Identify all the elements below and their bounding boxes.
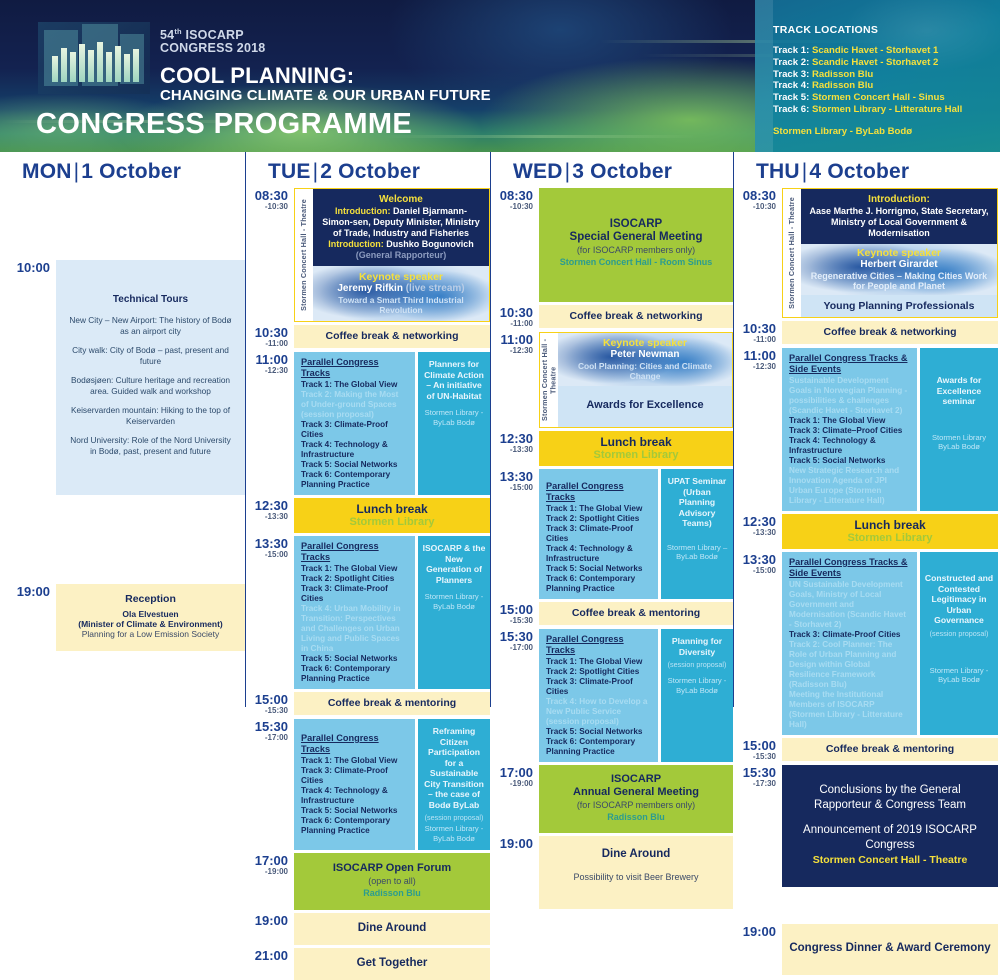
welcome-intro-1: Introduction: Daniel Bjarmann-Simon-sen,… [320,206,482,239]
day-abbr: MON [22,160,72,183]
sgm-org: ISOCARP [547,218,725,231]
time-label: 19:00 [495,836,539,850]
tracks-heading: Parallel Congress Tracks [546,481,651,503]
agm-note: (for ISOCARP members only) [545,799,727,811]
day-heading-thursday: THU|4 October [734,152,998,188]
side-event-title: Reframing Citizen Participation for a Su… [422,726,486,810]
get-together-label: Get Together [300,957,484,970]
time-label: 13:30 -15:00 [495,469,539,493]
track-location-value: Scandic Havet - Storhavet 2 [812,57,938,68]
wed-coffee-pm-block[interactable]: Coffee break & mentoring [539,602,733,625]
tue-welcome-keynote-block[interactable]: Stormen Concert Hall - Theatre Welcome I… [294,188,490,322]
time-label: 15:00 -15:30 [250,692,294,716]
thu-1330-row: 13:30 -15:00 Parallel Congress Tracks & … [738,552,998,735]
track-line[interactable]: Sustainable Development Goals in Norwegi… [789,376,910,416]
welcome-intro-2: Introduction: Dushko Bogunovich [320,239,482,250]
track-locations-heading: TRACK LOCATIONS [773,24,988,36]
tue-1100-row: 11:00 -12:30 Parallel Congress Tracks Tr… [250,352,490,495]
time-label: 19:00 [250,913,294,927]
thursday-rows: 08:30 -10:30 Stormen Concert Hall - Thea… [734,188,998,975]
reception-subject: Planning for a Low Emission Society [66,629,235,640]
wed-1030-row: 10:30 -11:00 Coffee break & networking [495,305,733,329]
wed-1500-row: 15:00 -15:30 Coffee break & mentoring [495,602,733,626]
keynote-label: Keynote speaker [564,337,726,349]
congress-theme-subtitle: CHANGING CLIMATE & OUR URBAN FUTURE [160,87,491,104]
side-event-location: Stormen Library - ByLab Bodø [422,592,486,611]
side-event-title: ISOCARP & the New Generation of Planners [422,543,486,585]
track-location-key: Track 1: [773,45,812,56]
tracks-heading: Parallel Congress Tracks & Side Events [789,353,910,375]
tue-side-event-1330[interactable]: ISOCARP & the New Generation of Planners… [418,536,490,689]
thu-intro-keynote-block[interactable]: Stormen Concert Hall - Theatre Introduct… [782,188,998,318]
thu-tracks-1330-block[interactable]: Parallel Congress Tracks & Side Events U… [782,552,998,735]
tue-coffee-pm-block[interactable]: Coffee break & mentoring [294,692,490,715]
technical-tour-item[interactable]: Nord University: Role of the Nord Univer… [68,435,233,456]
page-header: 54th ISOCARP CONGRESS 2018 COOL PLANNING… [0,0,1000,152]
day-abbr: THU [756,160,800,183]
time-label: 10:30 -11:00 [250,325,294,349]
technical-tour-item[interactable]: New City – New Airport: The history of B… [68,315,233,336]
side-event-note: (session proposal) [665,660,729,669]
coffee-break-label: Coffee break & networking [300,330,484,343]
coffee-break-label: Coffee break & networking [545,310,727,323]
sgm-title: Special General Meeting [547,231,725,244]
thu-1030-row: 10:30 -11:00 Coffee break & networking [738,321,998,345]
track-line[interactable]: Track 3: Climate-Proof Cities [301,766,408,786]
dine-around-note: Possibility to visit Beer Brewery [545,871,727,883]
time-label: 08:30 -10:30 [738,188,782,212]
keynote-speaker-name: Herbert Girardet [807,259,991,271]
thu-conclusions-block[interactable]: Conclusions by the General Rapporteur & … [782,765,998,887]
side-event-location: Stormen Library - ByLab Bodø [924,666,994,685]
track-line[interactable]: Track 2: Spotlight Cities [546,667,651,677]
side-event-title: Constructed and Contested Legitimacy in … [924,573,994,626]
day-separator: | [72,160,82,183]
track-line[interactable]: Track 2: Spotlight Cities [546,514,651,524]
track-line[interactable]: Track 6: Contemporary Planning Practice [301,664,408,684]
wednesday-rows: 08:30 -10:30 ISOCARP Special General Mee… [491,188,733,909]
agm-title: Annual General Meeting [545,786,727,799]
time-label: 12:30 -13:30 [250,498,294,522]
track-location-key: Track 5: [773,92,812,103]
wed-coffee-am-block[interactable]: Coffee break & networking [539,305,733,328]
technical-tour-item[interactable]: Bodøsjøen: Culture heritage and recreati… [68,375,233,396]
tue-1030-row: 10:30 -11:00 Coffee break & networking [250,325,490,349]
awards-for-excellence-section: Awards for Excellence [558,386,732,427]
track-line[interactable]: Track 5: Social Networks [301,806,408,816]
congress-edition-line2: CONGRESS 2018 [160,42,491,55]
lunch-location: Stormen Library [788,532,992,544]
venue-vertical-label: Stormen Concert Hall - Theatre [783,189,801,317]
time-label: 10:30 -11:00 [495,305,539,329]
time-label: 13:30 -15:00 [738,552,782,576]
tue-tracks-1100-block[interactable]: Parallel Congress Tracks Track 1: The Gl… [294,352,490,495]
time-label: 08:30 -10:30 [495,188,539,212]
time-label: 17:00 -19:00 [250,853,294,877]
track-location-key: Track 6: [773,104,812,115]
thu-1900-row: 19:00 Congress Dinner & Award Ceremony [738,924,998,975]
track-line[interactable]: Track 3: Climate-Proof Cities [546,524,651,544]
day-column-monday: MON|1 October 10:00 Technical Tours New … [0,152,245,707]
keynote-talk-title: Regenerative Cities – Making Cities Work… [807,271,991,291]
track-line[interactable]: Track 3: Climate-Proof Cities [301,584,408,604]
track-line[interactable]: Track 5: Social Networks [546,564,651,574]
day-column-wednesday: WED|3 October 08:30 -10:30 ISOCARP Speci… [490,152,733,707]
day-heading-wednesday: WED|3 October [491,152,733,188]
time-label: 11:00 -12:30 [250,352,294,376]
thu-1530-row: 15:30 -17:30 Conclusions by the General … [738,765,998,887]
track-location-key: Track 2: [773,57,812,68]
coffee-break-label: Coffee break & mentoring [788,743,992,756]
track-line[interactable]: Track 5: Social Networks [301,460,408,470]
intro-label: Introduction: [808,194,990,206]
tue-open-forum-block[interactable]: ISOCARP Open Forum (open to all) Radisso… [294,853,490,910]
congress-edition-line1: 54th ISOCARP [160,26,491,42]
track-location-value: Scandic Havet - Storhavet 1 [812,45,938,56]
track-line[interactable]: Track 1: The Global View [301,756,408,766]
coffee-break-label: Coffee break & mentoring [545,607,727,620]
time-label: 08:30 -10:30 [250,188,294,212]
side-event-note: (session proposal) [924,629,994,638]
header-title-block: 54th ISOCARP CONGRESS 2018 COOL PLANNING… [160,26,491,104]
wed-1330-row: 13:30 -15:00 Parallel Congress Tracks Tr… [495,469,733,599]
wed-sgm-block[interactable]: ISOCARP Special General Meeting (for ISO… [539,188,733,302]
programme-grid: MON|1 October 10:00 Technical Tours New … [0,152,1000,707]
tue-dine-around-block[interactable]: Dine Around [294,913,490,945]
track-line[interactable]: Track 4: Technology & Infrastructure [301,440,408,460]
welcome-section: Welcome Introduction: Daniel Bjarmann-Si… [313,189,489,266]
time-label: 15:30 -17:30 [738,765,782,789]
thu-intro-section: Introduction: Aase Marthe J. Horrigmo, S… [801,189,997,244]
side-event-title: UPAT Seminar (Urban Planning Advisory Te… [665,476,729,529]
side-event-location: Stormen Library - ByLab Bodø [422,408,486,427]
venue-vertical-label: Stormen Concert Hall - Theatre [540,333,558,427]
keynote-label: Keynote speaker [807,247,991,259]
wed-side-event-1530[interactable]: Planning for Diversity (session proposal… [661,629,733,762]
track-line[interactable]: New Strategic Research and Innovation Ag… [789,466,910,506]
dine-around-label: Dine Around [300,922,484,935]
page-title: CONGRESS PROGRAMME [36,108,412,141]
reception-block[interactable]: Reception Ola Elvestuen (Minister of Cli… [56,584,245,651]
tue-1500-row: 15:00 -15:30 Coffee break & mentoring [250,692,490,716]
technical-tours-block[interactable]: Technical Tours New City – New Airport: … [56,260,245,495]
tue-tracks-1530-block[interactable]: Parallel Congress Tracks Track 1: The Gl… [294,719,490,850]
wed-lunch-block[interactable]: Lunch break Stormen Library [539,431,733,466]
tue-keynote-section: Keynote speaker Jeremy Rifkin (live stre… [313,266,489,321]
day-abbr: WED [513,160,563,183]
time-label: 11:00 -12:30 [738,348,782,372]
time-label: 12:30 -13:30 [738,514,782,538]
time-label: 10:00 [4,260,56,274]
dine-around-label: Dine Around [545,848,727,861]
tuesday-rows: 08:30 -10:30 Stormen Concert Hall - Thea… [246,188,490,980]
wed-tracks-1330-block[interactable]: Parallel Congress Tracks Track 1: The Gl… [539,469,733,599]
keynote-speaker-name: Jeremy Rifkin (live stream) [319,283,483,295]
lunch-title: Lunch break [300,503,484,516]
side-event-title: Awards for Excellence seminar [924,375,994,407]
track-locations-list: TRACK LOCATIONS Track 1: Scandic Havet -… [773,24,988,137]
time-label: 19:00 [4,584,56,598]
wed-1530-row: 15:30 -17:00 Parallel Congress Tracks Tr… [495,629,733,762]
day-separator: | [311,160,321,183]
sgm-location: Stormen Concert Hall - Room Sinus [547,256,725,268]
tue-get-together-block[interactable]: Get Together [294,948,490,980]
congress-dinner-label: Congress Dinner & Award Ceremony [788,942,992,955]
thu-side-event-1330[interactable]: Constructed and Contested Legitimacy in … [920,552,998,735]
track-line[interactable]: Track 1: The Global View [789,416,910,426]
tue-side-event-1100[interactable]: Planners for Climate Action – An initiat… [418,352,490,495]
tracks-heading: Parallel Congress Tracks & Side Events [789,557,910,579]
day-date: 1 October [81,160,181,183]
track-line[interactable]: Track 1: The Global View [301,564,408,574]
reception-title: Reception [66,593,235,605]
tue-side-event-1530[interactable]: Reframing Citizen Participation for a Su… [418,719,490,850]
wed-dine-around-block[interactable]: Dine Around Possibility to visit Beer Br… [539,836,733,909]
wed-agm-block[interactable]: ISOCARP Annual General Meeting (for ISOC… [539,765,733,833]
young-planning-professionals-section: Young Planning Professionals [801,295,997,317]
side-event-title: Planners for Climate Action – An initiat… [422,359,486,401]
track-line[interactable]: Track 4: Technology & Infrastructure [301,786,408,806]
track-location-row: Track 5: Stormen Concert Hall - Sinus [773,92,988,104]
tue-0830-row: 08:30 -10:30 Stormen Concert Hall - Thea… [250,188,490,322]
thu-1100-row: 11:00 -12:30 Parallel Congress Tracks & … [738,348,998,511]
time-label: 15:30 -17:00 [495,629,539,653]
tracks-heading: Parallel Congress Tracks [301,541,408,563]
tue-2100-row: 21:00 Get Together [250,948,490,980]
tue-1900-row: 19:00 Dine Around [250,913,490,945]
track-location-row: Track 3: Radisson Blu [773,69,988,81]
tue-1530-row: 15:30 -17:00 Parallel Congress Tracks Tr… [250,719,490,850]
time-label: 11:00 -12:30 [495,332,539,356]
track-location-value: Stormen Concert Hall - Sinus [812,92,945,103]
technical-tours-title: Technical Tours [68,294,233,305]
track-line[interactable]: Track 1: The Global View [546,657,651,667]
monday-tours-row: 10:00 Technical Tours New City – New Air… [4,260,245,495]
reception-speaker: Ola Elvestuen [66,609,235,619]
time-label: 19:00 [738,924,782,938]
day-date: 2 October [320,160,420,183]
track-line[interactable]: Track 3: Climate-Proof Cities [789,630,910,640]
day-heading-tuesday: TUE|2 October [246,152,490,188]
day-heading-monday: MON|1 October [0,152,245,188]
isocarp-logo [38,22,150,94]
track-line[interactable]: Track 4: Technology & Infrastructure [789,436,910,456]
agm-org: ISOCARP [545,773,727,786]
congress-theme-title: COOL PLANNING: [160,64,491,87]
track-line[interactable]: Track 3: Climate-Proof Cities [301,420,408,440]
side-event-note: (session proposal) [422,813,486,822]
track-line[interactable]: Track 1: The Global View [546,504,651,514]
tracks-heading: Parallel Congress Tracks [301,733,408,755]
reception-speaker-role: (Minister of Climate & Environment) [66,619,235,629]
day-separator: | [800,160,810,183]
monday-rows: 10:00 Technical Tours New City – New Air… [0,188,245,651]
track-line[interactable]: Track 3: Climate–Proof Cities [789,426,910,436]
thu-1500-row: 15:00 -15:30 Coffee break & mentoring [738,738,998,762]
track-location-row: Track 1: Scandic Havet - Storhavet 1 [773,45,988,57]
track-locations-panel: TRACK LOCATIONS Track 1: Scandic Havet -… [755,0,1000,152]
venue-vertical-label: Stormen Concert Hall - Theatre [295,189,313,321]
thu-1230-row: 12:30 -13:30 Lunch break Stormen Library [738,514,998,549]
tracks-heading: Parallel Congress Tracks [546,634,651,656]
track-locations-footer: Stormen Library - ByLab Bodø [773,126,988,137]
thu-tracks-1100-block[interactable]: Parallel Congress Tracks & Side Events S… [782,348,998,511]
day-column-thursday: THU|4 October 08:30 -10:30 Stormen Conce… [733,152,998,707]
day-separator: | [563,160,573,183]
track-location-key: Track 4: [773,80,812,91]
thu-lunch-block[interactable]: Lunch break Stormen Library [782,514,998,549]
time-label: 15:00 -15:30 [495,602,539,626]
tue-lunch-block[interactable]: Lunch break Stormen Library [294,498,490,533]
side-event-location: Stormen Library - ByLab Bodø [665,676,729,695]
wed-keynote-awards-block[interactable]: Stormen Concert Hall - Theatre Keynote s… [539,332,733,428]
conclusions-location: Stormen Concert Hall - Theatre [792,853,988,867]
wed-tracks-1530-block[interactable]: Parallel Congress Tracks Track 1: The Gl… [539,629,733,762]
time-label: 21:00 [250,948,294,962]
technical-tour-item[interactable]: City walk: City of Bodø – past, present … [68,345,233,366]
track-line[interactable]: Track 1: The Global View [301,380,408,390]
thu-coffee-am-block[interactable]: Coffee break & networking [782,321,998,344]
thu-coffee-pm-block[interactable]: Coffee break & mentoring [782,738,998,761]
track-location-value: Radisson Blu [812,69,873,80]
side-event-location: Stormen Library – ByLab Bodø [665,543,729,562]
side-event-title: Planning for Diversity [665,636,729,657]
wed-0830-row: 08:30 -10:30 ISOCARP Special General Mee… [495,188,733,302]
day-abbr: TUE [268,160,311,183]
keynote-talk-title: Toward a Smart Third Industrial Revoluti… [319,295,483,315]
lunch-location: Stormen Library [545,449,727,461]
track-location-value: Stormen Library - Litterature Hall [812,104,962,115]
track-line[interactable]: Track 4: Urban Mobility in Transition: P… [301,604,408,654]
awards-title: Awards for Excellence [564,399,726,412]
intro-text: Aase Marthe J. Horrigmo, State Secretary… [808,206,990,239]
thu-congress-dinner-block[interactable]: Congress Dinner & Award Ceremony [782,924,998,975]
open-forum-note: (open to all) [300,875,484,887]
time-label: 10:30 -11:00 [738,321,782,345]
wed-1100-row: 11:00 -12:30 Stormen Concert Hall - Thea… [495,332,733,428]
time-label: 12:30 -13:30 [495,431,539,455]
wed-1900-row: 19:00 Dine Around Possibility to visit B… [495,836,733,909]
thu-0830-row: 08:30 -10:30 Stormen Concert Hall - Thea… [738,188,998,318]
keynote-label: Keynote speaker [319,271,483,283]
side-event-location: Stormen Library - ByLab Bodø [422,824,486,843]
track-line[interactable]: Track 2: Making the Most of Under-ground… [301,390,408,420]
track-line[interactable]: Track 4: Technology & Infrastructure [546,544,651,564]
monday-reception-row: 19:00 Reception Ola Elvestuen (Minister … [4,584,245,651]
track-line[interactable]: Track 6: Contemporary Planning Practice [301,470,408,490]
keynote-speaker-name: Peter Newman [564,349,726,361]
track-line[interactable]: Track 3: Climate-Proof Cities [546,677,651,697]
tue-coffee-am-block[interactable]: Coffee break & networking [294,325,490,348]
announcement-line: Announcement of 2019 ISOCARP Congress [792,823,988,853]
thu-side-event-1100[interactable]: Awards for Excellence seminar Stormen Li… [920,348,998,511]
thu-keynote-section: Keynote speaker Herbert Girardet Regener… [801,244,997,295]
day-column-tuesday: TUE|2 October 08:30 -10:30 Stormen Conce… [245,152,490,707]
tue-1330-row: 13:30 -15:00 Parallel Congress Tracks Tr… [250,536,490,689]
track-location-value: Radisson Blu [812,80,873,91]
track-line[interactable]: Track 5: Social Networks [301,654,408,664]
track-line[interactable]: Track 5: Social Networks [789,456,910,466]
track-location-row: Track 4: Radisson Blu [773,80,988,92]
track-line[interactable]: Track 2: Cool Planner: The Role of Urban… [789,640,910,690]
welcome-intro-2-note: (General Rapporteur) [320,250,482,261]
lunch-title: Lunch break [545,436,727,449]
wed-keynote-section: Keynote speaker Peter Newman Cool Planni… [558,333,732,386]
sgm-note: (for ISOCARP members only) [547,244,725,256]
tue-1700-row: 17:00 -19:00 ISOCARP Open Forum (open to… [250,853,490,910]
agm-location: Radisson Blu [545,811,727,823]
track-location-row: Track 2: Scandic Havet - Storhavet 2 [773,57,988,69]
side-event-location: Stormen Library ByLab Bodø [924,433,994,452]
track-line[interactable]: UN Sustainable Development Goals, Minist… [789,580,910,630]
wed-1700-row: 17:00 -19:00 ISOCARP Annual General Meet… [495,765,733,833]
coffee-break-label: Coffee break & networking [788,326,992,339]
time-label: 15:00 -15:30 [738,738,782,762]
track-line[interactable]: Track 6: Contemporary Planning Practice [301,816,408,836]
track-line[interactable]: Track 5: Social Networks [546,727,651,737]
open-forum-title: ISOCARP Open Forum [300,862,484,875]
day-date: 3 October [572,160,672,183]
wed-1230-row: 12:30 -13:30 Lunch break Stormen Library [495,431,733,466]
track-line[interactable]: Track 4: How to Develop a New Public Ser… [546,697,651,727]
lunch-location: Stormen Library [300,516,484,528]
lunch-title: Lunch break [788,519,992,532]
welcome-heading: Welcome [320,194,482,206]
track-location-key: Track 3: [773,69,812,80]
track-line[interactable]: Track 6: Contemporary Planning Practice [546,574,651,594]
track-line[interactable]: Track 2: Spotlight Cities [301,574,408,584]
coffee-break-label: Coffee break & mentoring [300,697,484,710]
day-date: 4 October [809,160,909,183]
tue-1230-row: 12:30 -13:30 Lunch break Stormen Library [250,498,490,533]
tue-tracks-1330-block[interactable]: Parallel Congress Tracks Track 1: The Gl… [294,536,490,689]
conclusions-line: Conclusions by the General Rapporteur & … [792,783,988,813]
open-forum-location: Radisson Blu [300,887,484,899]
track-location-row: Track 6: Stormen Library - Litterature H… [773,104,988,116]
time-label: 15:30 -17:00 [250,719,294,743]
wed-side-event-1330[interactable]: UPAT Seminar (Urban Planning Advisory Te… [661,469,733,599]
tracks-heading: Parallel Congress Tracks [301,357,408,379]
technical-tour-item[interactable]: Keiservarden mountain: Hiking to the top… [68,405,233,426]
keynote-talk-title: Cool Planning: Cities and Climate Change [564,361,726,381]
time-label: 13:30 -15:00 [250,536,294,560]
track-line[interactable]: Meeting the Institutional Members of ISO… [789,690,910,730]
time-label: 17:00 -19:00 [495,765,539,789]
track-line[interactable]: Track 6: Contemporary Planning Practice [546,737,651,757]
logo-bars-icon [52,42,139,82]
